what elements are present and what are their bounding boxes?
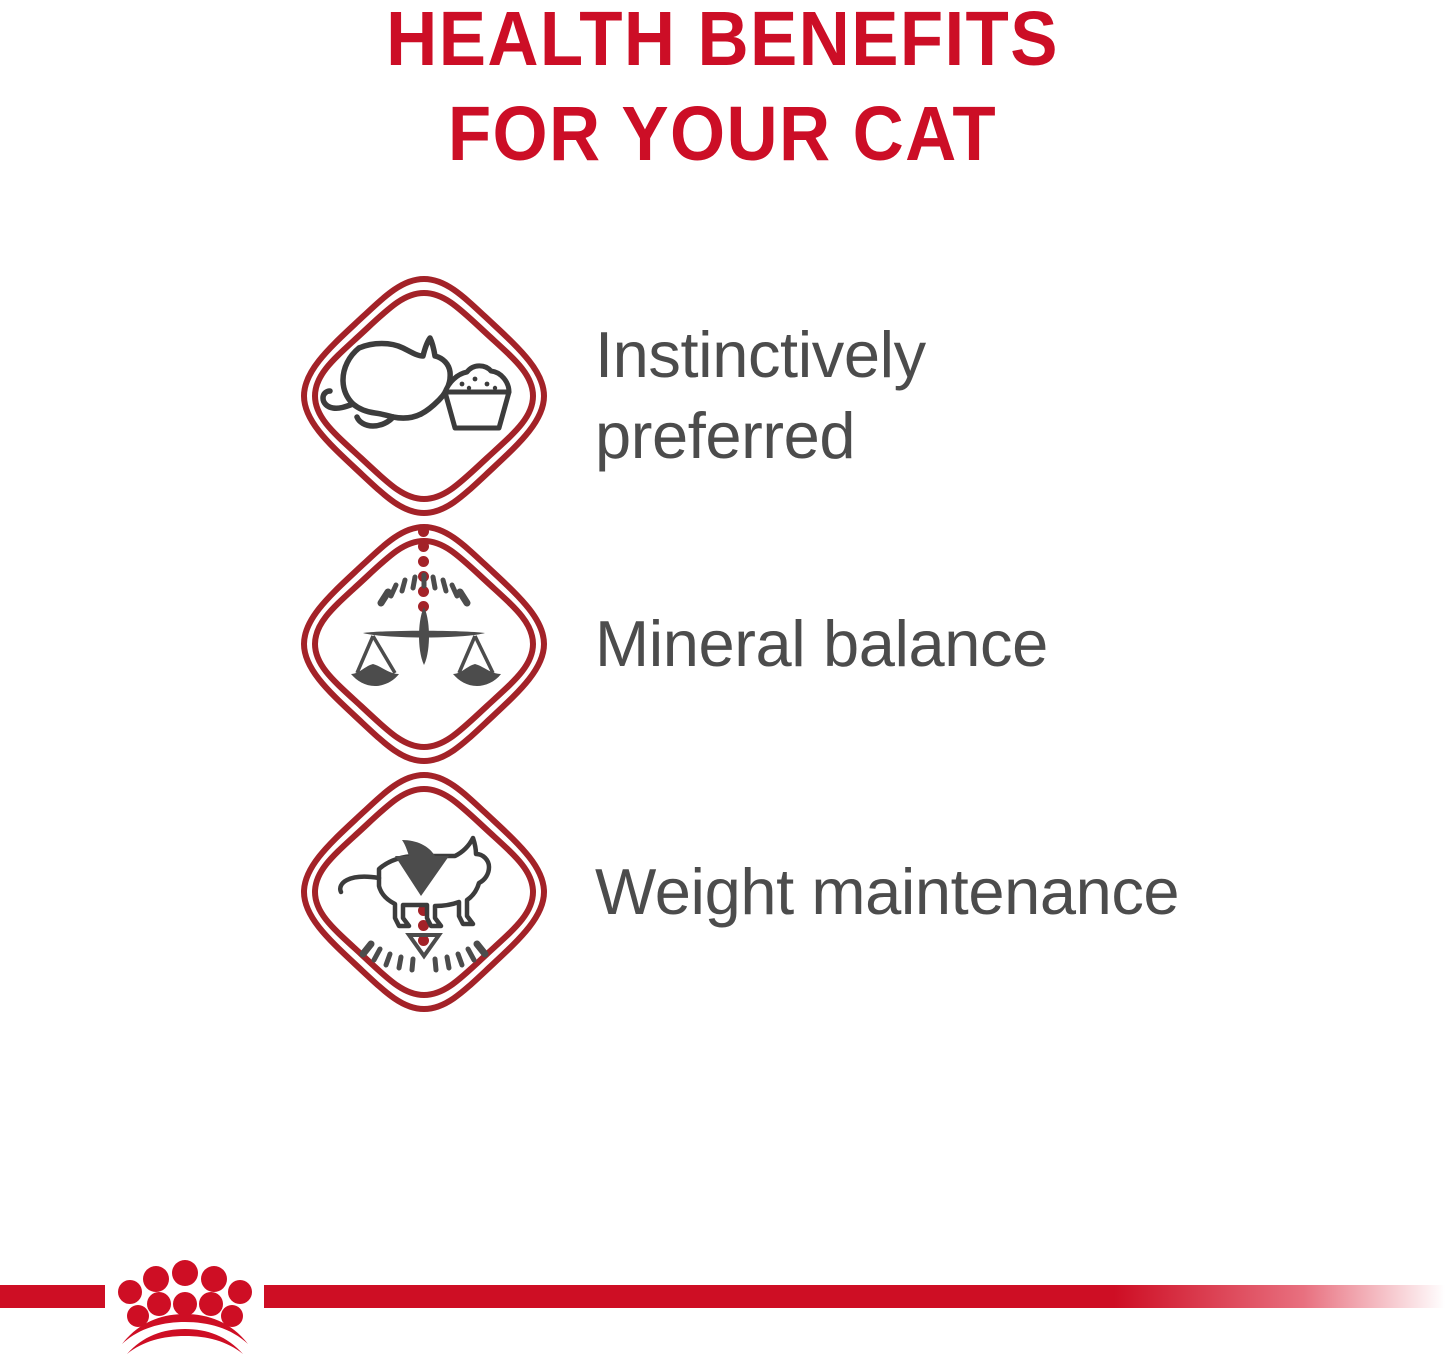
page-title-line-1: HEALTH BENEFITS	[58, 0, 1387, 87]
cat-eating-from-bowl-icon	[297, 272, 551, 520]
royal-canin-crown-logo	[105, 1256, 265, 1354]
benefit-row-mineral-balance: Mineral balance	[0, 520, 1445, 768]
benefit-row-instinctively-preferred: Instinctively preferred	[0, 272, 1445, 520]
benefit-label-weight-maintenance: Weight maintenance	[595, 852, 1179, 933]
page-title: HEALTH BENEFITS FOR YOUR CAT	[0, 0, 1445, 182]
footer-bar-right-segment	[264, 1285, 1445, 1308]
benefits-list: Instinctively preferred	[0, 272, 1445, 1016]
cat-on-scale-weight-icon	[297, 768, 551, 1016]
footer-bar-left-segment	[0, 1285, 105, 1308]
health-benefits-infographic: HEALTH BENEFITS FOR YOUR CAT	[0, 0, 1445, 1363]
page-title-line-2: FOR YOUR CAT	[58, 87, 1387, 182]
footer-brand-bar	[0, 1250, 1445, 1363]
balance-scale-icon	[297, 520, 551, 768]
benefit-label-mineral-balance: Mineral balance	[595, 604, 1048, 685]
benefit-label-instinctively-preferred: Instinctively preferred	[595, 315, 1095, 476]
benefit-row-weight-maintenance: Weight maintenance	[0, 768, 1445, 1016]
